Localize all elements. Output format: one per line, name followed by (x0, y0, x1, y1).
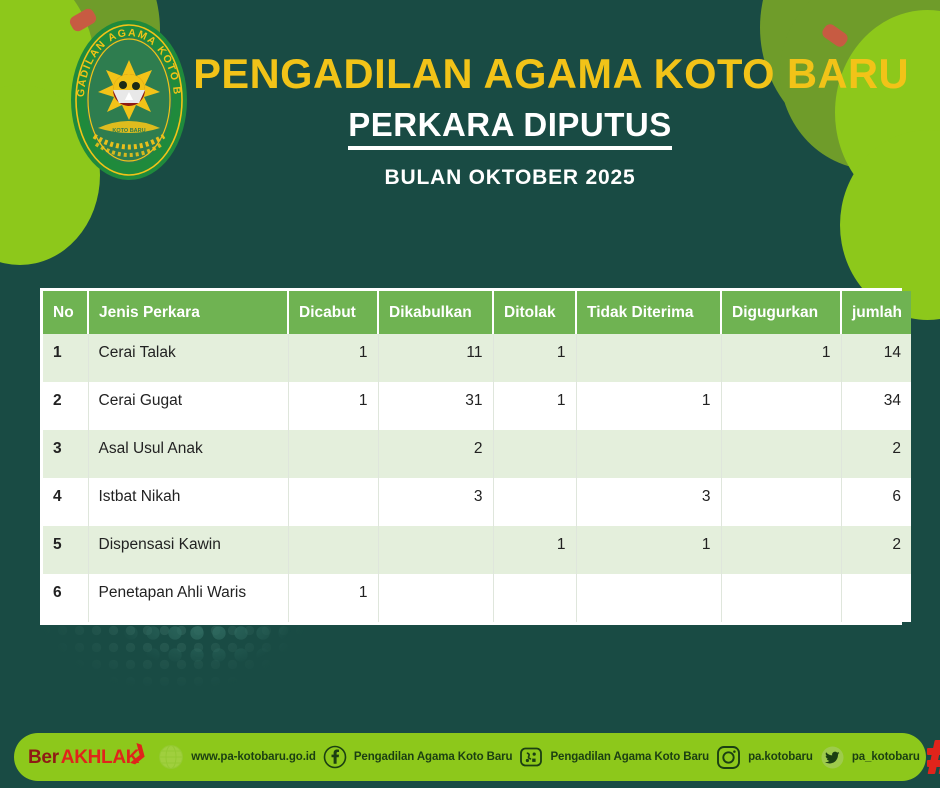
cell-jumlah: 6 (841, 478, 911, 526)
page-title: PENGADILAN AGAMA KOTO BARU (193, 52, 827, 96)
youtube-icon[interactable] (519, 745, 543, 769)
cell-tidak-diterima (576, 334, 721, 382)
cell-jenis-perkara: Penetapan Ahli Waris (88, 574, 288, 622)
twitter-icon[interactable] (820, 745, 845, 770)
cell-digugurkan (721, 382, 841, 430)
cell-dicabut: 1 (288, 382, 378, 430)
hashtag-icon (927, 739, 940, 775)
table-row: 3 Asal Usul Anak 2 2 (43, 430, 911, 478)
cell-no: 4 (43, 478, 88, 526)
cell-dicabut: 1 (288, 334, 378, 382)
instagram-icon[interactable] (716, 745, 741, 770)
poster-canvas: PENGADILAN AGAMA KOTO BARU KOTO BARU (0, 0, 940, 788)
cell-digugurkan (721, 478, 841, 526)
period-label: BULAN OKTOBER 2025 (190, 166, 830, 190)
cell-tidak-diterima: 1 (576, 382, 721, 430)
court-seal-icon: PENGADILAN AGAMA KOTO BARU KOTO BARU (68, 16, 190, 184)
cell-ditolak: 1 (493, 334, 576, 382)
cell-no: 6 (43, 574, 88, 622)
column-header-tidak-diterima: Tidak Diterima (576, 291, 721, 334)
cell-dicabut: 1 (288, 574, 378, 622)
cell-dikabulkan: 3 (378, 478, 493, 526)
cell-digugurkan (721, 430, 841, 478)
cell-jumlah: 14 (841, 334, 911, 382)
cell-ditolak (493, 478, 576, 526)
berakhlak-prefix: Ber (28, 748, 59, 767)
table-row: 1 Cerai Talak 1 11 1 1 14 (43, 334, 911, 382)
berakhlak-logo: Ber AKHLAK ❯ (28, 748, 139, 767)
facebook-icon[interactable] (323, 745, 347, 769)
cell-jumlah: 2 (841, 526, 911, 574)
cell-jumlah: 34 (841, 382, 911, 430)
cell-no: 5 (43, 526, 88, 574)
instagram-label[interactable]: pa.kotobaru (748, 751, 813, 763)
case-table-card: No Jenis Perkara Dicabut Dikabulkan Dito… (40, 288, 902, 625)
column-header-dicabut: Dicabut (288, 291, 378, 334)
cell-no: 2 (43, 382, 88, 430)
cell-dikabulkan: 31 (378, 382, 493, 430)
column-header-jumlah: jumlah (841, 291, 911, 334)
table-row: 4 Istbat Nikah 3 3 6 (43, 478, 911, 526)
bangga-melayani-bangsa-logo: bangga melayani bangsa (927, 737, 940, 777)
chevron-icon: ❯ (128, 739, 152, 768)
cell-ditolak: 1 (493, 526, 576, 574)
berakhlak-suffix: AKHLAK (61, 748, 139, 767)
cell-dikabulkan: 11 (378, 334, 493, 382)
cell-tidak-diterima (576, 430, 721, 478)
page-subtitle: PERKARA DIPUTUS (348, 106, 671, 150)
cell-dicabut (288, 478, 378, 526)
footer-bar: Ber AKHLAK ❯ www.pa-kotobaru.go.id Penga… (14, 733, 926, 781)
cell-dikabulkan (378, 526, 493, 574)
cell-ditolak (493, 574, 576, 622)
twitter-label[interactable]: pa_kotobaru (852, 751, 920, 763)
cell-digugurkan (721, 526, 841, 574)
cell-no: 1 (43, 334, 88, 382)
cell-dicabut (288, 526, 378, 574)
globe-icon (158, 744, 184, 770)
table-row: 2 Cerai Gugat 1 31 1 1 34 (43, 382, 911, 430)
column-header-jenis-perkara: Jenis Perkara (88, 291, 288, 334)
table-body: 1 Cerai Talak 1 11 1 1 14 2 Cerai Gugat … (43, 334, 911, 622)
cell-digugurkan (721, 574, 841, 622)
column-header-no: No (43, 291, 88, 334)
cell-jenis-perkara: Asal Usul Anak (88, 430, 288, 478)
website-label[interactable]: www.pa-kotobaru.go.id (191, 751, 316, 763)
table-row: 6 Penetapan Ahli Waris 1 (43, 574, 911, 622)
cell-dicabut (288, 430, 378, 478)
cell-tidak-diterima (576, 574, 721, 622)
cell-ditolak: 1 (493, 382, 576, 430)
cell-jenis-perkara: Cerai Talak (88, 334, 288, 382)
youtube-label[interactable]: Pengadilan Agama Koto Baru (550, 751, 709, 763)
cell-jumlah: 2 (841, 430, 911, 478)
cell-ditolak (493, 430, 576, 478)
column-header-ditolak: Ditolak (493, 291, 576, 334)
cell-tidak-diterima: 3 (576, 478, 721, 526)
svg-text:KOTO BARU: KOTO BARU (112, 128, 145, 134)
column-header-digugurkan: Digugurkan (721, 291, 841, 334)
cell-digugurkan: 1 (721, 334, 841, 382)
cell-no: 3 (43, 430, 88, 478)
title-block: PENGADILAN AGAMA KOTO BARU PERKARA DIPUT… (190, 52, 830, 190)
table-row: 5 Dispensasi Kawin 1 1 2 (43, 526, 911, 574)
cell-jenis-perkara: Dispensasi Kawin (88, 526, 288, 574)
case-table: No Jenis Perkara Dicabut Dikabulkan Dito… (43, 291, 911, 622)
cell-jenis-perkara: Istbat Nikah (88, 478, 288, 526)
facebook-label[interactable]: Pengadilan Agama Koto Baru (354, 751, 513, 763)
cell-jumlah (841, 574, 911, 622)
poster-header: PENGADILAN AGAMA KOTO BARU KOTO BARU (0, 0, 940, 210)
cell-tidak-diterima: 1 (576, 526, 721, 574)
column-header-dikabulkan: Dikabulkan (378, 291, 493, 334)
cell-jenis-perkara: Cerai Gugat (88, 382, 288, 430)
cell-dikabulkan (378, 574, 493, 622)
cell-dikabulkan: 2 (378, 430, 493, 478)
table-header-row: No Jenis Perkara Dicabut Dikabulkan Dito… (43, 291, 911, 334)
